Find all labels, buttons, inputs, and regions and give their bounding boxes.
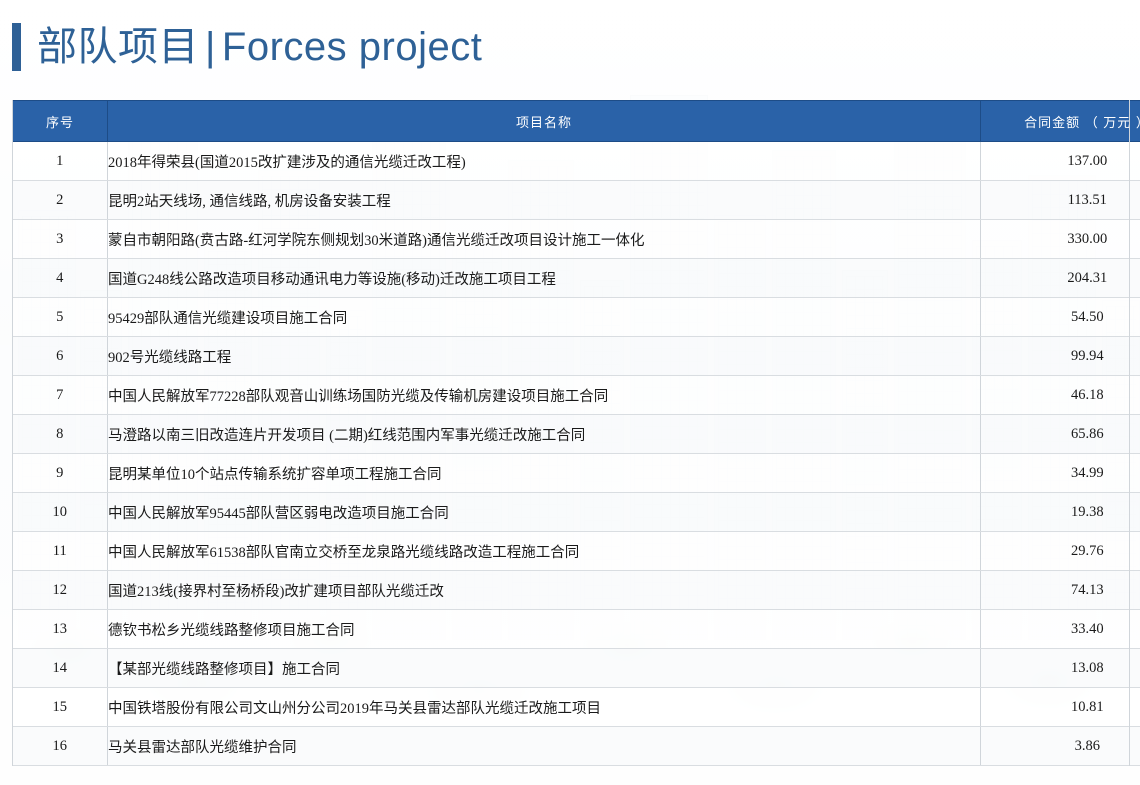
cell-contract-amount: 65.86 <box>981 415 1140 454</box>
cell-project-name: 中国人民解放军77228部队观音山训练场国防光缆及传输机房建设项目施工合同 <box>108 376 981 415</box>
cell-no: 11 <box>13 532 108 571</box>
cell-no: 2 <box>13 181 108 220</box>
project-table: 序号 项目名称 合同金额 （ 万元 ） 12018年得荣县(国道2015改扩建涉… <box>12 100 1140 766</box>
cell-no: 16 <box>13 727 108 766</box>
cell-project-name: 蒙自市朝阳路(贲古路-红河学院东侧规划30米道路)通信光缆迁改项目设计施工一体化 <box>108 220 981 259</box>
table-row: 6902号光缆线路工程99.94 <box>13 337 1140 376</box>
table-row: 8马澄路以南三旧改造连片开发项目 (二期)红线范围内军事光缆迁改施工合同65.8… <box>13 415 1140 454</box>
table-row: 9昆明某单位10个站点传输系统扩容单项工程施工合同34.99 <box>13 454 1140 493</box>
page-title: 部队项目|Forces project <box>12 18 482 76</box>
table-row: 595429部队通信光缆建设项目施工合同54.50 <box>13 298 1140 337</box>
table-header: 序号 项目名称 合同金额 （ 万元 ） <box>13 101 1140 142</box>
table-row: 12国道213线(接界村至杨桥段)改扩建项目部队光缆迁改74.13 <box>13 571 1140 610</box>
table-right-edge <box>1129 100 1130 766</box>
title-text-en: Forces project <box>222 25 482 69</box>
cell-project-name: 昆明2站天线场, 通信线路, 机房设备安装工程 <box>108 181 981 220</box>
cell-no: 13 <box>13 610 108 649</box>
table-row: 13德钦书松乡光缆线路整修项目施工合同33.40 <box>13 610 1140 649</box>
column-header-name: 项目名称 <box>108 101 981 142</box>
cell-contract-amount: 13.08 <box>981 649 1140 688</box>
table-row: 10中国人民解放军95445部队营区弱电改造项目施工合同19.38 <box>13 493 1140 532</box>
cell-no: 8 <box>13 415 108 454</box>
cell-contract-amount: 330.00 <box>981 220 1140 259</box>
cell-no: 9 <box>13 454 108 493</box>
table-row: 4国道G248线公路改造项目移动通讯电力等设施(移动)迁改施工项目工程204.3… <box>13 259 1140 298</box>
cell-no: 4 <box>13 259 108 298</box>
cell-contract-amount: 74.13 <box>981 571 1140 610</box>
table-body: 12018年得荣县(国道2015改扩建涉及的通信光缆迁改工程)137.002昆明… <box>13 142 1140 766</box>
table-row: 15中国铁塔股份有限公司文山州分公司2019年马关县雷达部队光缆迁改施工项目10… <box>13 688 1140 727</box>
table-row: 14【某部光缆线路整修项目】施工合同13.08 <box>13 649 1140 688</box>
cell-project-name: 德钦书松乡光缆线路整修项目施工合同 <box>108 610 981 649</box>
cell-contract-amount: 10.81 <box>981 688 1140 727</box>
cell-project-name: 昆明某单位10个站点传输系统扩容单项工程施工合同 <box>108 454 981 493</box>
cell-contract-amount: 33.40 <box>981 610 1140 649</box>
cell-contract-amount: 3.86 <box>981 727 1140 766</box>
table-row: 16马关县雷达部队光缆维护合同3.86 <box>13 727 1140 766</box>
cell-no: 15 <box>13 688 108 727</box>
cell-project-name: 95429部队通信光缆建设项目施工合同 <box>108 298 981 337</box>
cell-no: 12 <box>13 571 108 610</box>
cell-project-name: 2018年得荣县(国道2015改扩建涉及的通信光缆迁改工程) <box>108 142 981 181</box>
table-left-edge <box>12 100 13 766</box>
cell-contract-amount: 29.76 <box>981 532 1140 571</box>
cell-no: 5 <box>13 298 108 337</box>
table-row: 12018年得荣县(国道2015改扩建涉及的通信光缆迁改工程)137.00 <box>13 142 1140 181</box>
table-header-row: 序号 项目名称 合同金额 （ 万元 ） <box>13 101 1140 142</box>
cell-contract-amount: 34.99 <box>981 454 1140 493</box>
page: 部队项目|Forces project 序号 项目名称 合同金额 （ 万元 ） … <box>0 0 1140 785</box>
cell-contract-amount: 54.50 <box>981 298 1140 337</box>
cell-contract-amount: 204.31 <box>981 259 1140 298</box>
cell-project-name: 中国铁塔股份有限公司文山州分公司2019年马关县雷达部队光缆迁改施工项目 <box>108 688 981 727</box>
cell-no: 7 <box>13 376 108 415</box>
cell-contract-amount: 99.94 <box>981 337 1140 376</box>
cell-no: 14 <box>13 649 108 688</box>
table-row: 2昆明2站天线场, 通信线路, 机房设备安装工程113.51 <box>13 181 1140 220</box>
cell-no: 3 <box>13 220 108 259</box>
cell-project-name: 马澄路以南三旧改造连片开发项目 (二期)红线范围内军事光缆迁改施工合同 <box>108 415 981 454</box>
cell-no: 10 <box>13 493 108 532</box>
cell-contract-amount: 137.00 <box>981 142 1140 181</box>
title-accent-bar <box>12 23 21 71</box>
table-row: 11中国人民解放军61538部队官南立交桥至龙泉路光缆线路改造工程施工合同29.… <box>13 532 1140 571</box>
column-header-amount: 合同金额 （ 万元 ） <box>981 101 1140 142</box>
cell-contract-amount: 19.38 <box>981 493 1140 532</box>
cell-contract-amount: 113.51 <box>981 181 1140 220</box>
cell-contract-amount: 46.18 <box>981 376 1140 415</box>
cell-project-name: 马关县雷达部队光缆维护合同 <box>108 727 981 766</box>
cell-project-name: 国道213线(接界村至杨桥段)改扩建项目部队光缆迁改 <box>108 571 981 610</box>
cell-project-name: 国道G248线公路改造项目移动通讯电力等设施(移动)迁改施工项目工程 <box>108 259 981 298</box>
cell-project-name: 902号光缆线路工程 <box>108 337 981 376</box>
table-row: 3蒙自市朝阳路(贲古路-红河学院东侧规划30米道路)通信光缆迁改项目设计施工一体… <box>13 220 1140 259</box>
cell-project-name: 中国人民解放军95445部队营区弱电改造项目施工合同 <box>108 493 981 532</box>
title-text-cn: 部队项目 <box>37 25 199 69</box>
cell-project-name: 【某部光缆线路整修项目】施工合同 <box>108 649 981 688</box>
cell-project-name: 中国人民解放军61538部队官南立交桥至龙泉路光缆线路改造工程施工合同 <box>108 532 981 571</box>
table-row: 7中国人民解放军77228部队观音山训练场国防光缆及传输机房建设项目施工合同46… <box>13 376 1140 415</box>
title-separator: | <box>199 25 222 69</box>
cell-no: 6 <box>13 337 108 376</box>
project-table-container: 序号 项目名称 合同金额 （ 万元 ） 12018年得荣县(国道2015改扩建涉… <box>12 100 1130 766</box>
title-text: 部队项目|Forces project <box>37 27 482 67</box>
column-header-no: 序号 <box>13 101 108 142</box>
cell-no: 1 <box>13 142 108 181</box>
